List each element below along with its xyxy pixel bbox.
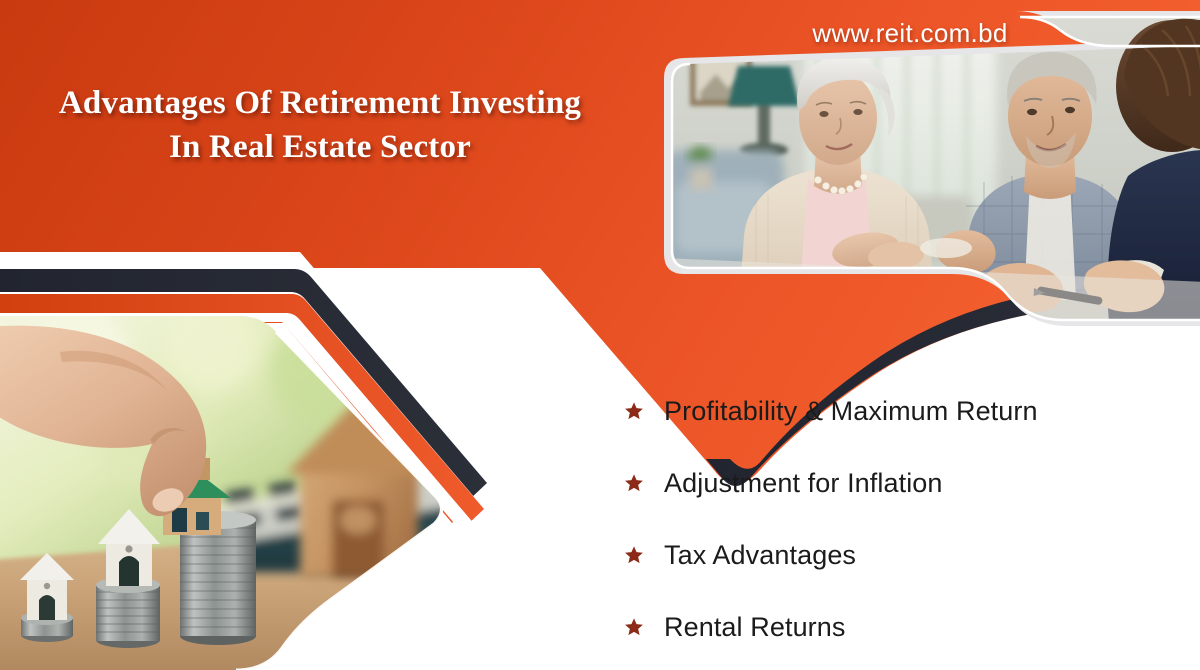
list-item: Rental Returns	[624, 591, 1164, 663]
list-item: Profitability & Maximum Return	[624, 375, 1164, 447]
benefits-list: Profitability & Maximum Return Adjustmen…	[624, 375, 1164, 663]
star-bullet-icon	[624, 473, 644, 493]
list-item: Adjustment for Inflation	[624, 447, 1164, 519]
benefit-label: Tax Advantages	[664, 540, 856, 571]
website-url[interactable]: www.reit.com.bd	[700, 18, 1120, 49]
star-bullet-icon	[624, 617, 644, 637]
list-item: Tax Advantages	[624, 519, 1164, 591]
benefit-label: Rental Returns	[664, 612, 846, 643]
star-bullet-icon	[624, 401, 644, 421]
benefit-label: Profitability & Maximum Return	[664, 396, 1038, 427]
retirement-investing-banner: Advantages Of Retirement Investing In Re…	[0, 0, 1200, 670]
benefit-label: Adjustment for Inflation	[664, 468, 943, 499]
star-bullet-icon	[624, 545, 644, 565]
